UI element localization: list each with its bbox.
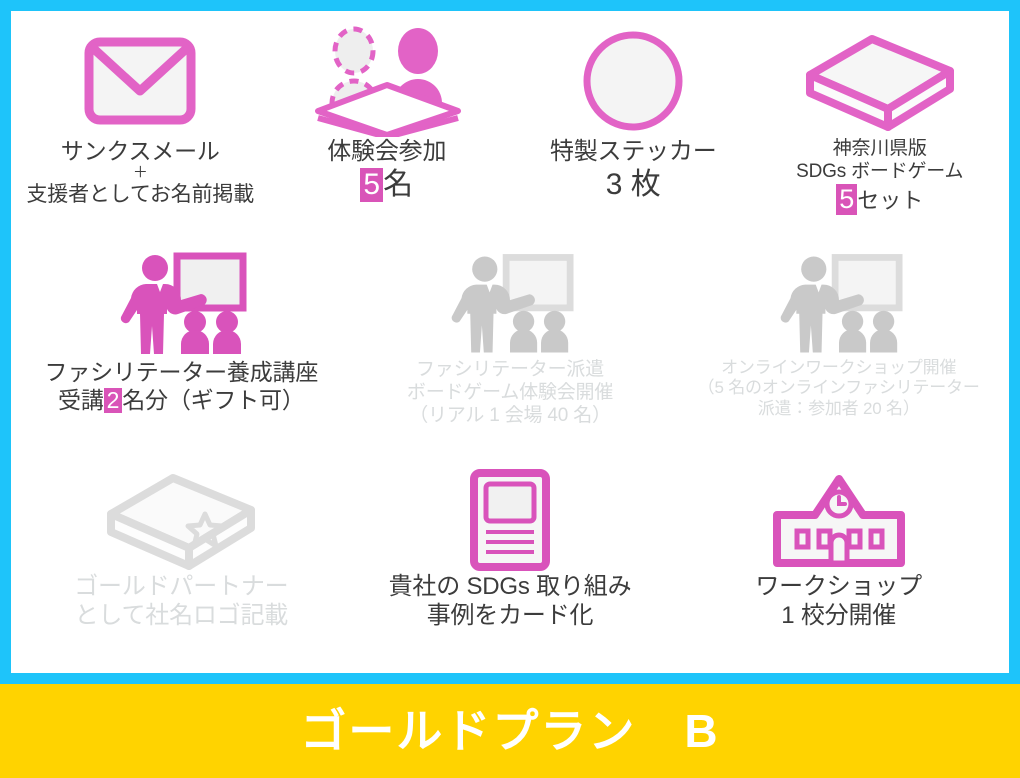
reward-plan-poster: サンクスメール ＋ 支援者としてお名前掲載 — [0, 0, 1020, 778]
rewards-card-frame: サンクスメール ＋ 支援者としてお名前掲載 — [0, 0, 1020, 684]
reward-unit: セット — [857, 188, 923, 213]
presenter-dispatch-icon — [446, 250, 574, 358]
reward-item-thanks-mail[interactable]: サンクスメール ＋ 支援者としてお名前掲載 — [17, 25, 264, 250]
reward-count: 5 — [836, 184, 857, 214]
envelope-icon — [82, 25, 198, 137]
plan-banner: ゴールドプラン B — [0, 684, 1020, 778]
reward-label-line1: 特製ステッカー — [550, 137, 717, 166]
reward-item-online-workshop[interactable]: オンラインワークショップ開催 （5 名のオンラインファシリテーター 派遣：参加者… — [674, 250, 1003, 469]
reward-count-line: 3 枚 — [606, 167, 661, 202]
sticker-circle-icon — [581, 25, 685, 137]
presenter-online-icon — [775, 250, 903, 358]
reward-label-line2: 支援者としてお名前掲載 — [26, 182, 254, 208]
reward-label-line1: ファシリテーター養成講座 — [45, 358, 319, 386]
reward-item-workshop-participation[interactable]: 体験会参加 5名 — [264, 25, 511, 250]
reward-suffix: 名分（ギフト可） — [122, 387, 304, 413]
reward-label-line2: 事例をカード化 — [427, 601, 594, 630]
reward-item-gold-partner[interactable]: ゴールドパートナー として社名ロゴ記載 — [17, 468, 346, 669]
reward-label-line2: 1 校分開催 — [781, 601, 896, 630]
reward-item-sdgs-card[interactable]: 貴社の SDGs 取り組み 事例をカード化 — [346, 468, 675, 669]
reward-label-line2: （5 名のオンラインファシリテーター — [698, 378, 980, 399]
board-game-box-icon — [800, 25, 960, 137]
reward-item-facilitator-dispatch[interactable]: ファシリテーター派遣 ボードゲーム体験会開催 （リアル 1 会場 40 名） — [346, 250, 675, 469]
reward-label-line1: 神奈川県版 — [833, 137, 927, 160]
reward-label-line2: として社名ロゴ記載 — [75, 601, 288, 630]
reward-unit: 名 — [383, 168, 413, 201]
reward-label-line1: ファシリテーター派遣 — [416, 358, 604, 381]
reward-label-line1: 貴社の SDGs 取り組み — [389, 572, 632, 601]
workshop-participants-icon — [312, 25, 462, 137]
sdgs-card-icon — [469, 468, 551, 572]
reward-label-line3: （リアル 1 会場 40 名） — [409, 404, 611, 427]
reward-count-line: 5名 — [360, 167, 413, 202]
reward-label-line1: ゴールドパートナー — [74, 572, 288, 601]
rewards-row-3: ゴールドパートナー として社名ロゴ記載 貴社の SDGs — [17, 468, 1003, 669]
reward-label-line3: 派遣：参加者 20 名） — [758, 399, 920, 420]
reward-label-line2: 受講2名分（ギフト可） — [58, 386, 305, 414]
rewards-row-2: ファシリテーター養成講座 受講2名分（ギフト可） — [17, 250, 1003, 469]
reward-count: 3 — [606, 168, 623, 201]
gold-partner-box-icon — [101, 468, 261, 572]
reward-prefix: 受講 — [58, 387, 104, 413]
reward-item-facilitator-training[interactable]: ファシリテーター養成講座 受講2名分（ギフト可） — [17, 250, 346, 469]
reward-count-line: 5セット — [836, 184, 923, 216]
rewards-card: サンクスメール ＋ 支援者としてお名前掲載 — [11, 11, 1009, 673]
reward-unit: 枚 — [631, 168, 661, 201]
reward-label-line2: ボードゲーム体験会開催 — [407, 381, 613, 404]
presenter-training-icon — [115, 250, 247, 358]
reward-count: 5 — [360, 168, 383, 202]
school-building-icon — [769, 468, 909, 572]
reward-label-line1: サンクスメール — [61, 137, 220, 165]
reward-item-school-workshop[interactable]: ワークショップ 1 校分開催 — [674, 468, 1003, 669]
reward-label-line2: SDGs ボードゲーム — [796, 160, 963, 183]
plan-title: ゴールドプラン B — [300, 708, 719, 754]
reward-label-line1: オンラインワークショップ開催 — [721, 358, 956, 379]
reward-count: 2 — [104, 388, 123, 414]
reward-label-line1: ワークショップ — [755, 572, 922, 601]
reward-label-plus: ＋ — [133, 165, 148, 182]
reward-label-line1: 体験会参加 — [327, 137, 446, 166]
rewards-row-1: サンクスメール ＋ 支援者としてお名前掲載 — [17, 25, 1003, 250]
reward-item-sticker[interactable]: 特製ステッカー 3 枚 — [510, 25, 757, 250]
reward-item-board-game-set[interactable]: 神奈川県版 SDGs ボードゲーム 5セット — [757, 25, 1004, 250]
